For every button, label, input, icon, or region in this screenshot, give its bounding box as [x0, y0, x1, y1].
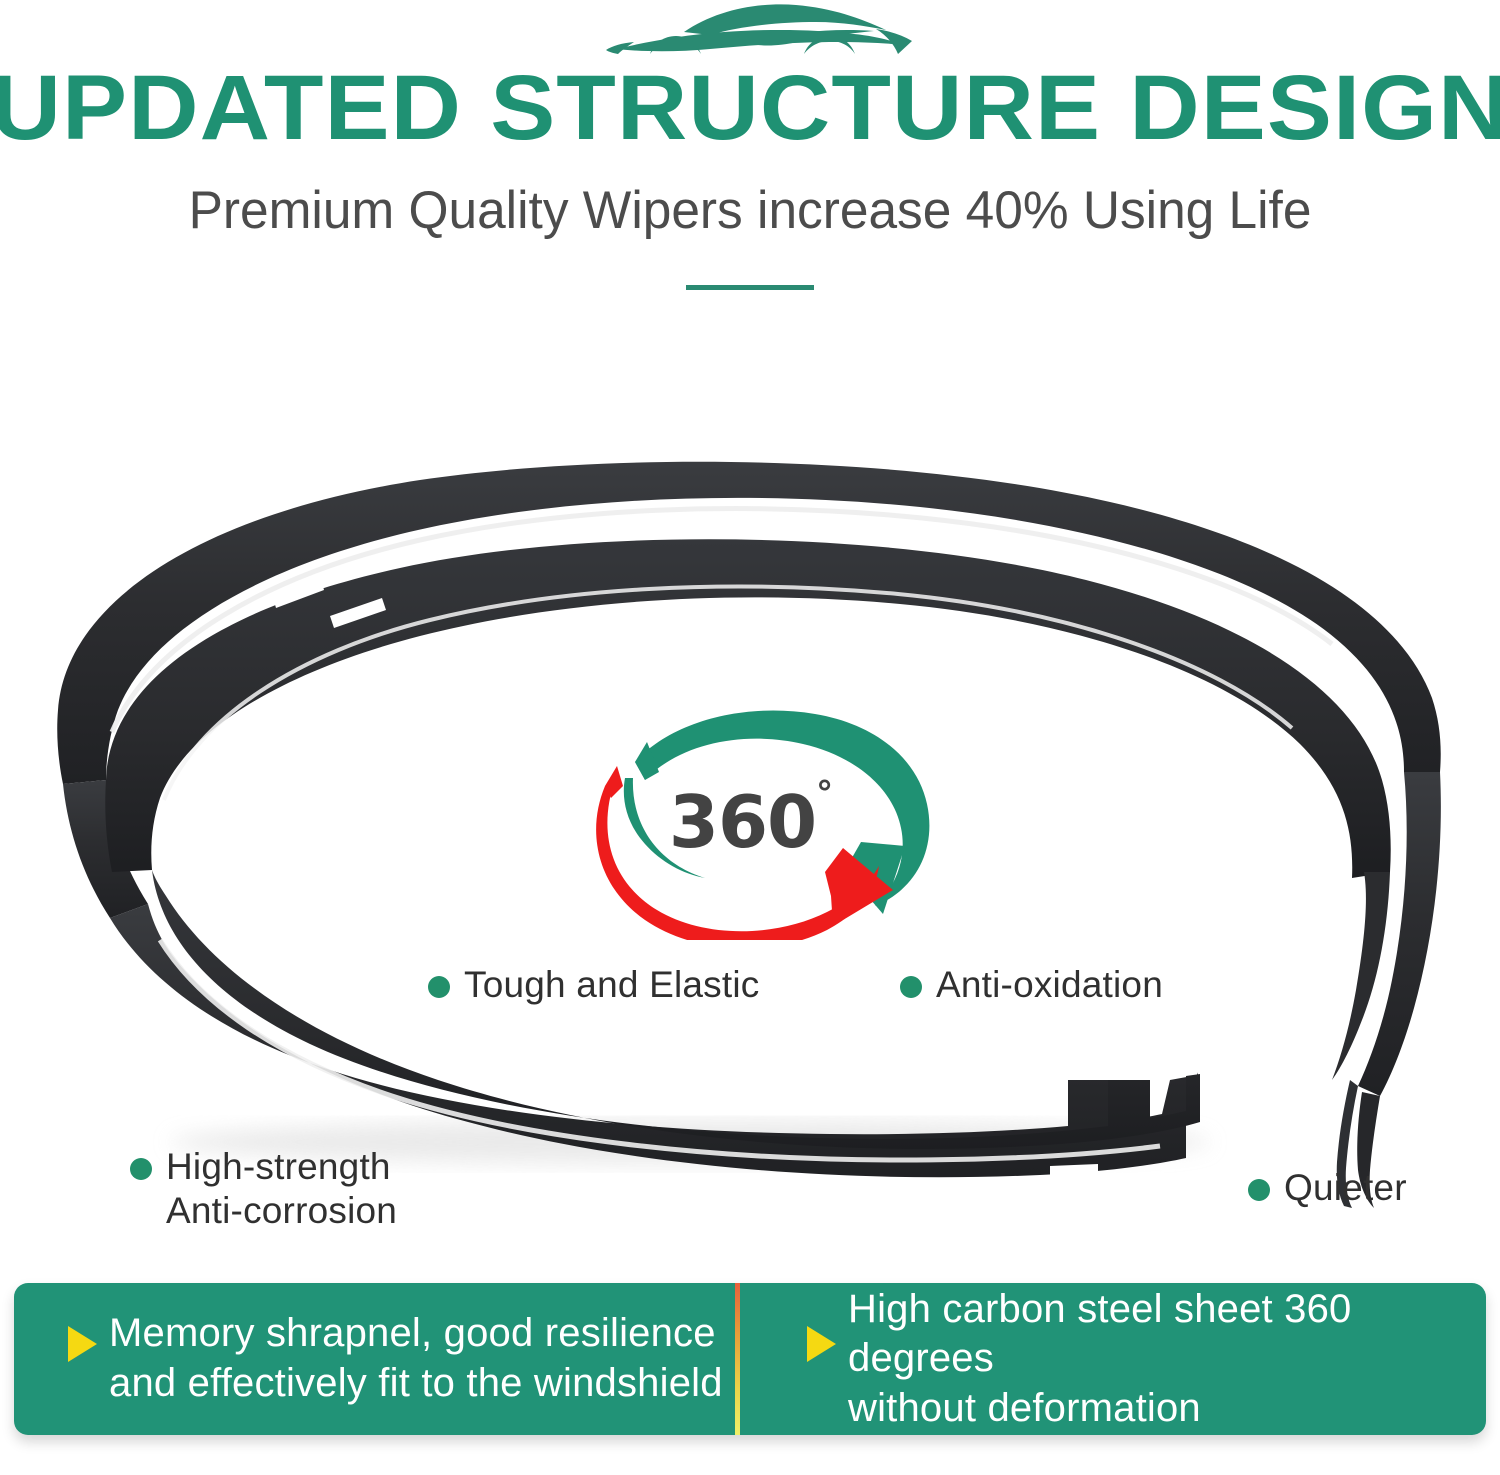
- banner-panel-memory-shrapnel: Memory shrapnel, good resilience and eff…: [14, 1283, 747, 1435]
- page-title: UPDATED STRUCTURE DESIGN: [0, 62, 1500, 154]
- car-silhouette-icon: [598, 2, 918, 64]
- feature-bullet-icon: [428, 976, 450, 998]
- feature-anti-oxidation: Anti-oxidation: [900, 963, 1163, 1007]
- feature-label: Tough and Elastic: [464, 963, 759, 1007]
- triangle-right-icon: [68, 1326, 97, 1362]
- feature-label: Anti-oxidation: [936, 963, 1163, 1007]
- feature-bullet-icon: [1248, 1179, 1270, 1201]
- feature-high-strength-anti-corrosion: High-strength Anti-corrosion: [130, 1145, 397, 1232]
- feature-label: Quieter: [1284, 1166, 1407, 1210]
- triangle-right-icon: [807, 1326, 836, 1362]
- title-divider-rule: [686, 285, 814, 290]
- feature-bullet-icon: [130, 1158, 152, 1180]
- feature-quieter: Quieter: [1248, 1166, 1407, 1210]
- banner-divider: [735, 1283, 740, 1435]
- banner-panel-text: Memory shrapnel, good resilience and eff…: [109, 1309, 723, 1408]
- 360-degree-rotation-badge: 360 °: [575, 700, 955, 940]
- banner-panel-high-carbon-steel: High carbon steel sheet 360 degrees with…: [747, 1283, 1486, 1435]
- bottom-feature-banner: Memory shrapnel, good resilience and eff…: [14, 1283, 1486, 1435]
- banner-panel-text: High carbon steel sheet 360 degrees with…: [848, 1285, 1486, 1434]
- header-section: UPDATED STRUCTURE DESIGN Premium Quality…: [0, 0, 1500, 320]
- page-subtitle: Premium Quality Wipers increase 40% Usin…: [23, 182, 1478, 240]
- feature-tough-and-elastic: Tough and Elastic: [428, 963, 759, 1007]
- rotation-arrows-icon: [575, 700, 955, 940]
- product-hero-section: Tough and Elastic Anti-oxidation High-st…: [0, 380, 1500, 1240]
- feature-bullet-icon: [900, 976, 922, 998]
- feature-label: High-strength Anti-corrosion: [166, 1145, 397, 1232]
